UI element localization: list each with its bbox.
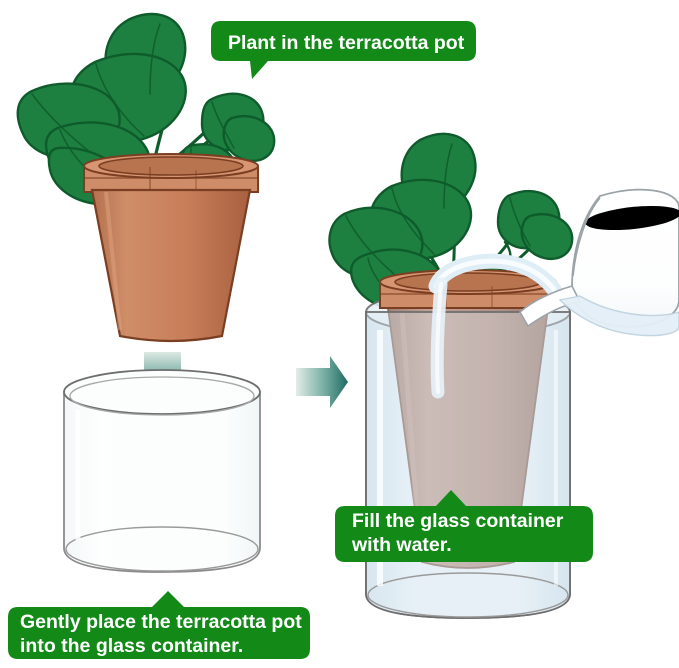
water-glass-container-front (366, 312, 570, 618)
diagram-canvas: Plant in the terracotta pot Fill the gla… (0, 0, 679, 663)
terracotta-pot-rim (84, 154, 258, 192)
callout-3-line-1: Gently place the terracotta pot (20, 611, 302, 633)
terracotta-pot-body (92, 190, 250, 341)
empty-glass-container (64, 370, 260, 572)
instructional-diagram: Plant in the terracotta pot Fill the gla… (0, 0, 679, 663)
callout-2-line-1: Fill the glass container (352, 510, 564, 532)
callout-1-label: Plant in the terracotta pot (228, 32, 465, 54)
callout-2-line-2: with water. (351, 534, 452, 556)
callout-3-line-2: into the glass container. (20, 635, 243, 657)
